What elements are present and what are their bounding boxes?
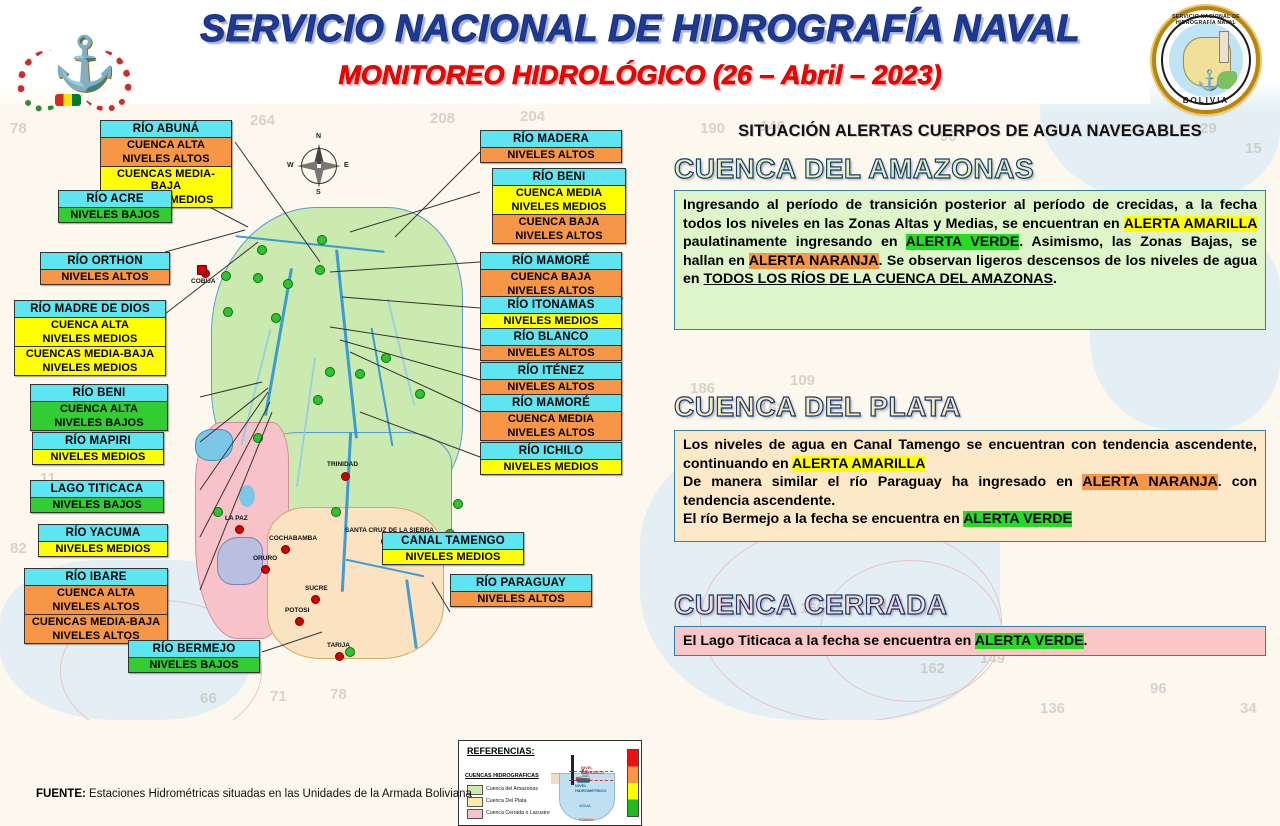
seal-inner-disc: ⚓: [1169, 23, 1243, 97]
callout-row: NIVELES MEDIOS: [15, 332, 165, 346]
page-header: ⚓ SERVICIO NACIONAL DE HIDROGRAFÍA NAVAL…: [0, 0, 1280, 112]
callout-row: CUENCA MEDIA: [481, 412, 621, 426]
callout-row: NIVELES BAJOS: [129, 658, 259, 672]
callout-title: LAGO TITICACA: [31, 481, 163, 498]
callout-title: RÍO ITÉNEZ: [481, 363, 621, 380]
callout-row: NIVELES BAJOS: [31, 416, 167, 430]
callout-group-orange: CUENCA ALTANIVELES ALTOS: [25, 586, 167, 615]
callout-title: RÍO YACUMA: [39, 525, 167, 542]
callout-rio-madre-de-dios[interactable]: RÍO MADRE DE DIOSCUENCA ALTANIVELES MEDI…: [14, 300, 166, 376]
source-text: Estaciones Hidrométricas situadas en las…: [89, 788, 472, 800]
callout-group-orange: CUENCA MEDIANIVELES ALTOS: [481, 412, 621, 440]
alert-verde-badge: ALERTA VERDE: [975, 633, 1084, 649]
callout-row: NIVELES ALTOS: [481, 380, 621, 394]
callout-row: CUENCAS MEDIA-BAJA: [15, 347, 165, 361]
callout-group-green: NIVELES BAJOS: [31, 498, 163, 512]
callout-rio-blanco[interactable]: RÍO BLANCONIVELES ALTOS: [480, 328, 622, 361]
callout-group-yellow: NIVELES MEDIOS: [33, 450, 163, 464]
callout-row: NIVELES ALTOS: [481, 148, 621, 162]
heading-cuenca-amazonas: CUENCA DEL AMAZONAS: [674, 154, 1034, 184]
callout-rio-madera[interactable]: RÍO MADERANIVELES ALTOS: [480, 130, 622, 163]
callout-group-green: CUENCA ALTANIVELES BAJOS: [31, 402, 167, 430]
callout-rio-itenez[interactable]: RÍO ITÉNEZNIVELES ALTOS: [480, 362, 622, 395]
callout-canal-tamengo[interactable]: CANAL TAMENGONIVELES MEDIOS: [382, 532, 524, 565]
callout-rio-beni-media[interactable]: RÍO BENICUENCA MEDIANIVELES MEDIOSCUENCA…: [492, 168, 626, 244]
heading-cuenca-plata: CUENCA DEL PLATA: [674, 392, 961, 422]
callout-title: RÍO ACRE: [59, 191, 171, 208]
bolivia-ribbon-icon: [55, 94, 81, 106]
callout-row: NIVELES ALTOS: [493, 229, 625, 243]
callout-rio-itonamas[interactable]: RÍO ITONAMASNIVELES MEDIOS: [480, 296, 622, 329]
callout-row: NIVELES ALTOS: [101, 152, 231, 166]
callout-title: RÍO BERMEJO: [129, 641, 259, 658]
callout-row: CUENCA ALTA: [15, 318, 165, 332]
callout-row: NIVELES BAJOS: [59, 208, 171, 222]
callout-title: RÍO BLANCO: [481, 329, 621, 346]
callout-title: RÍO IBARE: [25, 569, 167, 586]
source-label: FUENTE:: [36, 788, 86, 800]
callout-title: CANAL TAMENGO: [383, 533, 523, 550]
callout-title: RÍO ABUNÁ: [101, 121, 231, 138]
callout-group-orange: CUENCAS MEDIA-BAJANIVELES ALTOS: [25, 615, 167, 643]
page-subtitle: MONITOREO HIDROLÓGICO (26 – Abril – 2023…: [140, 60, 1140, 91]
callout-group-orange: NIVELES ALTOS: [481, 148, 621, 162]
callout-title: RÍO PARAGUAY: [451, 575, 591, 592]
callout-group-orange: CUENCA BAJANIVELES ALTOS: [481, 270, 621, 298]
callout-row: CUENCA BAJA: [481, 270, 621, 284]
callout-rio-yacuma[interactable]: RÍO YACUMANIVELES MEDIOS: [38, 524, 168, 557]
callout-row: NIVELES ALTOS: [41, 270, 169, 284]
page-title: SERVICIO NACIONAL DE HIDROGRAFÍA NAVAL: [140, 8, 1140, 51]
callout-rio-bermejo[interactable]: RÍO BERMEJONIVELES BAJOS: [128, 640, 260, 673]
callout-group-green: NIVELES BAJOS: [59, 208, 171, 222]
map-pane: COBIJA TRINIDAD LA PAZ COCHABAMBA ORURO …: [0, 112, 660, 720]
plata-line-3: El río Bermejo a la fecha se encuentra e…: [683, 510, 1257, 529]
diagram-label-agua: AGUA: [579, 803, 591, 808]
callout-title: RÍO MAPIRI: [33, 433, 163, 450]
snhn-seal-icon: ⚓ SERVICIO NACIONAL DE HIDROGRAFÍA NAVAL…: [1152, 6, 1260, 114]
ref-label-amazonas: Cuenca del Amazonas: [486, 786, 538, 792]
alert-scale-bar: [627, 749, 639, 817]
alert-amarilla-badge: ALERTA AMARILLA: [1124, 216, 1257, 232]
callout-row: CUENCA ALTA: [101, 138, 231, 152]
callout-group-yellow: CUENCAS MEDIA-BAJANIVELES MEDIOS: [15, 347, 165, 375]
callout-title: RÍO MADRE DE DIOS: [15, 301, 165, 318]
callout-row: NIVELES ALTOS: [451, 592, 591, 606]
callout-title: RÍO MAMORÉ: [481, 253, 621, 270]
panel-cuenca-plata: Los niveles de agua en Canal Tamengo se …: [674, 430, 1266, 542]
panel-cuenca-cerrada: El Lago Titicaca a la fecha se encuentra…: [674, 626, 1266, 656]
callout-title: RÍO MAMORÉ: [481, 395, 621, 412]
seal-bottom-label: BOLIVIA: [1156, 96, 1256, 105]
callout-row: NIVELES ALTOS: [481, 426, 621, 440]
bolivian-naval-emblem-icon: ⚓: [8, 4, 132, 108]
alert-amarilla-badge: ALERTA AMARILLA: [792, 456, 925, 472]
callout-rio-beni-alta[interactable]: RÍO BENICUENCA ALTANIVELES BAJOS: [30, 384, 168, 431]
callout-row: NIVELES ALTOS: [481, 346, 621, 360]
callout-row: CUENCA BAJA: [493, 215, 625, 229]
callout-row: NIVELES MEDIOS: [481, 314, 621, 328]
callout-row: NIVELES MEDIOS: [481, 460, 621, 474]
source-footer: FUENTE: Estaciones Hidrométricas situada…: [36, 788, 472, 800]
alert-verde-badge: ALERTA VERDE: [963, 511, 1072, 527]
callout-title: RÍO ICHILO: [481, 443, 621, 460]
callout-group-orange: CUENCA BAJANIVELES ALTOS: [493, 215, 625, 243]
ref-label-cerrada: Cuenca Cerrada o Lacustre: [486, 810, 550, 816]
callout-row: NIVELES MEDIOS: [493, 200, 625, 214]
callout-group-yellow: NIVELES MEDIOS: [383, 550, 523, 564]
callout-row: NIVELES MEDIOS: [383, 550, 523, 564]
alerts-pane: SITUACIÓN ALERTAS CUERPOS DE AGUA NAVEGA…: [660, 112, 1280, 720]
callout-rio-ichilo[interactable]: RÍO ICHILONIVELES MEDIOS: [480, 442, 622, 475]
plata-line-1: Los niveles de agua en Canal Tamengo se …: [683, 436, 1257, 473]
callout-rio-paraguay[interactable]: RÍO PARAGUAYNIVELES ALTOS: [450, 574, 592, 607]
diagram-label-barranco: NIVEL BARRANCO: [581, 765, 613, 775]
references-title: REFERENCIAS:: [467, 746, 535, 756]
alert-verde-badge: ALERTA VERDE: [906, 234, 1020, 250]
callout-group-orange: NIVELES ALTOS: [451, 592, 591, 606]
callout-rio-mapiri[interactable]: RÍO MAPIRINIVELES MEDIOS: [32, 432, 164, 465]
seal-condor-icon: ⚓: [1197, 71, 1222, 91]
callout-rio-ibare[interactable]: RÍO IBARECUENCA ALTANIVELES ALTOSCUENCAS…: [24, 568, 168, 644]
diagram-label-hidrometrico: NIVEL HIDROMETRICO: [575, 783, 613, 793]
callout-row: NIVELES MEDIOS: [33, 450, 163, 464]
callout-title: RÍO BENI: [31, 385, 167, 402]
callout-row: NIVELES BAJOS: [31, 498, 163, 512]
callout-group-orange: NIVELES ALTOS: [481, 380, 621, 394]
callout-lago-titicaca[interactable]: LAGO TITICACANIVELES BAJOS: [30, 480, 164, 513]
callout-rio-acre[interactable]: RÍO ACRENIVELES BAJOS: [58, 190, 172, 223]
callout-group-orange: NIVELES ALTOS: [41, 270, 169, 284]
alert-naranja-badge: ALERTA NARANJA: [749, 253, 879, 269]
seal-lighthouse-icon: [1219, 31, 1229, 63]
amazonas-rivers-emphasis: TODOS LOS RÍOS DE LA CUENCA DEL AMAZONAS: [704, 271, 1053, 287]
callout-group-orange: NIVELES ALTOS: [481, 346, 621, 360]
ref-label-plata: Cuenca Del Plata: [486, 798, 526, 804]
callout-group-yellow: NIVELES MEDIOS: [481, 314, 621, 328]
callout-row: NIVELES MEDIOS: [39, 542, 167, 556]
seal-top-label: SERVICIO NACIONAL DE HIDROGRAFÍA NAVAL: [1156, 14, 1256, 26]
references-subtitle: CUENCAS HIDROGRAFICAS: [465, 773, 539, 779]
callout-group-yellow: NIVELES MEDIOS: [481, 460, 621, 474]
diagram-label-fondo: FONDO: [579, 817, 593, 822]
callout-row: CUENCA MEDIA: [493, 186, 625, 200]
callout-title: RÍO ORTHON: [41, 253, 169, 270]
references-box: REFERENCIAS: CUENCAS HIDROGRAFICAS Cuenc…: [458, 740, 642, 826]
callout-title: RÍO MADERA: [481, 131, 621, 148]
callout-rio-orthon[interactable]: RÍO ORTHONNIVELES ALTOS: [40, 252, 170, 285]
callout-group-green: NIVELES BAJOS: [129, 658, 259, 672]
callout-row: CUENCAS MEDIA-BAJA: [25, 615, 167, 629]
callout-group-yellow: CUENCA ALTANIVELES MEDIOS: [15, 318, 165, 347]
callout-rio-mamore-baja[interactable]: RÍO MAMORÉCUENCA BAJANIVELES ALTOS: [480, 252, 622, 299]
callout-rio-mamore-media[interactable]: RÍO MAMORÉCUENCA MEDIANIVELES ALTOS: [480, 394, 622, 441]
plata-line-2: De manera similar el río Paraguay ha ing…: [683, 473, 1257, 510]
callout-row: CUENCA ALTA: [31, 402, 167, 416]
situation-title: SITUACIÓN ALERTAS CUERPOS DE AGUA NAVEGA…: [660, 122, 1280, 141]
callout-title: RÍO ITONAMAS: [481, 297, 621, 314]
alert-naranja-badge: ALERTA NARANJA: [1082, 474, 1217, 490]
ref-swatch-cerrada: [467, 809, 483, 819]
callout-group-yellow: NIVELES MEDIOS: [39, 542, 167, 556]
river-cross-section-diagram: 🚢 NIVEL BARRANCO NIVEL HIDROMETRICO AGUA…: [551, 751, 613, 821]
heading-cuenca-cerrada: CUENCA CERRADA: [674, 590, 948, 620]
panel-cuenca-amazonas: Ingresando al período de transición post…: [674, 190, 1266, 330]
callout-title: RÍO BENI: [493, 169, 625, 186]
callout-row: NIVELES MEDIOS: [15, 361, 165, 375]
callout-row: NIVELES ALTOS: [25, 600, 167, 614]
callout-group-yellow: CUENCA MEDIANIVELES MEDIOS: [493, 186, 625, 215]
callout-row: CUENCA ALTA: [25, 586, 167, 600]
callout-group-orange: CUENCA ALTANIVELES ALTOS: [101, 138, 231, 167]
